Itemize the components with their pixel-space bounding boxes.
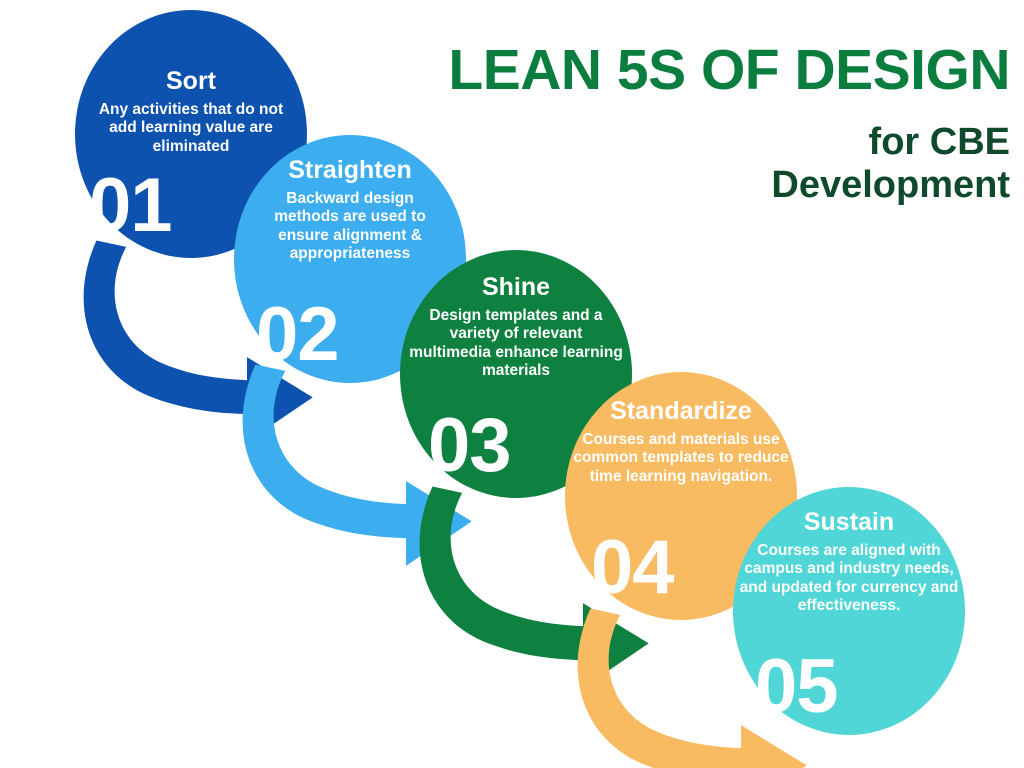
step-3-title: Shine [404, 274, 628, 300]
title-block: LEAN 5S OF DESIGN for CBE Development [360, 42, 1010, 206]
step-circle-5[interactable]: Sustain Courses are aligned with campus … [733, 487, 965, 735]
page-subtitle-line1: for CBE [360, 121, 1010, 164]
step-5-number: 05 [755, 649, 838, 725]
page-subtitle: for CBE Development [360, 121, 1010, 206]
page-subtitle-line2: Development [360, 164, 1010, 207]
step-4-number: 04 [591, 530, 674, 606]
step-4-body: Courses and materials use common templat… [569, 431, 793, 485]
step-4-title: Standardize [569, 398, 793, 424]
step-2-number: 02 [256, 297, 339, 373]
step-1-title: Sort [79, 68, 303, 94]
page-title: LEAN 5S OF DESIGN [360, 42, 1010, 99]
step-1-body: Any activities that do not add learning … [79, 101, 303, 155]
step-1-content: Sort Any activities that do not add lear… [75, 68, 307, 156]
step-5-content: Sustain Courses are aligned with campus … [733, 509, 965, 615]
step-5-title: Sustain [737, 509, 961, 535]
step-3-content: Shine Design templates and a variety of … [400, 274, 632, 380]
step-3-body: Design templates and a variety of releva… [404, 307, 628, 380]
step-4-content: Standardize Courses and materials use co… [565, 398, 797, 486]
infographic-canvas: Sort Any activities that do not add lear… [0, 0, 1024, 768]
step-1-number: 01 [89, 168, 172, 244]
step-3-number: 03 [428, 408, 511, 484]
step-5-body: Courses are aligned with campus and indu… [737, 542, 961, 615]
